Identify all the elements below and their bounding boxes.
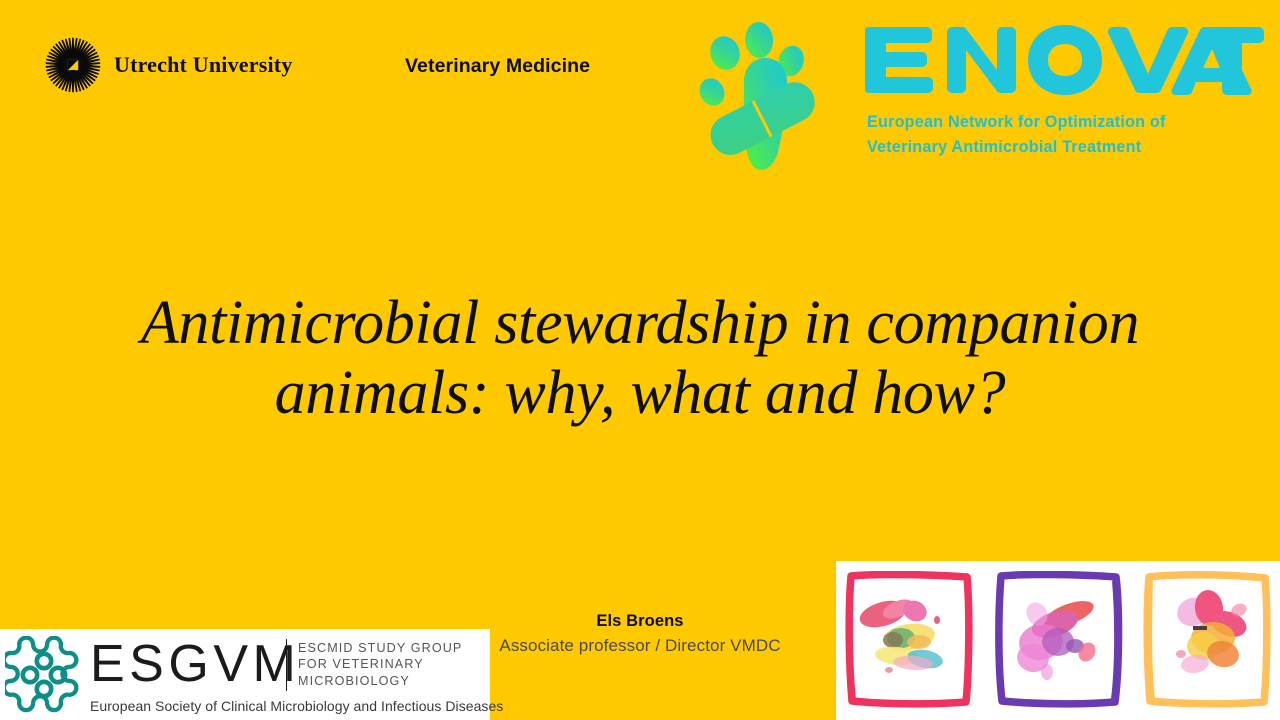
esgvm-subtitle: ESCMID STUDY GROUP FOR VETERINARY MICROB… (298, 640, 462, 689)
esgvm-wordmark: ESGVM (90, 638, 300, 690)
artwork-item-3 (1142, 571, 1272, 708)
enovat-wordmark (865, 23, 1265, 95)
esgvm-molecule-grid-icon (5, 636, 83, 714)
enovat-logo: European Network for Optimization of Vet… (697, 8, 1273, 178)
faculty-label: Veterinary Medicine (405, 55, 590, 78)
presentation-slide: Utrecht University Veterinary Medicine (0, 0, 1280, 720)
enovat-subtitle-line2: Veterinary Antimicrobial Treatment (867, 135, 1271, 160)
title-line-2: animals: why, what and how? (90, 358, 1190, 428)
esgvm-subtitle-line1: ESCMID STUDY GROUP (298, 640, 462, 656)
page-title: Antimicrobial stewardship in companion a… (90, 288, 1190, 428)
utrecht-sunburst-icon (44, 36, 102, 94)
divider (286, 639, 287, 691)
painting-1 (853, 580, 965, 699)
painting-3 (1151, 580, 1263, 699)
painting-2 (1003, 580, 1115, 699)
artwork-item-1 (844, 571, 974, 708)
esgvm-subtitle-line2: FOR VETERINARY (298, 656, 462, 672)
title-line-1: Antimicrobial stewardship in companion (90, 288, 1190, 358)
utrecht-university-label: Utrecht University (114, 52, 293, 78)
utrecht-university-logo: Utrecht University (44, 36, 293, 94)
esgvm-logo-panel: ESGVM ESCMID STUDY GROUP FOR VETERINARY … (0, 629, 490, 720)
enovat-subtitle-line1: European Network for Optimization of (867, 113, 1166, 131)
childrens-artwork-panel (836, 561, 1280, 720)
paw-print-with-capsule-icon (697, 20, 829, 178)
esgvm-subtitle-line3: MICROBIOLOGY (298, 673, 462, 689)
artwork-item-2 (994, 571, 1124, 708)
esgvm-footnote: European Society of Clinical Microbiolog… (90, 698, 503, 714)
enovat-subtitle: European Network for Optimization of Vet… (867, 110, 1271, 160)
